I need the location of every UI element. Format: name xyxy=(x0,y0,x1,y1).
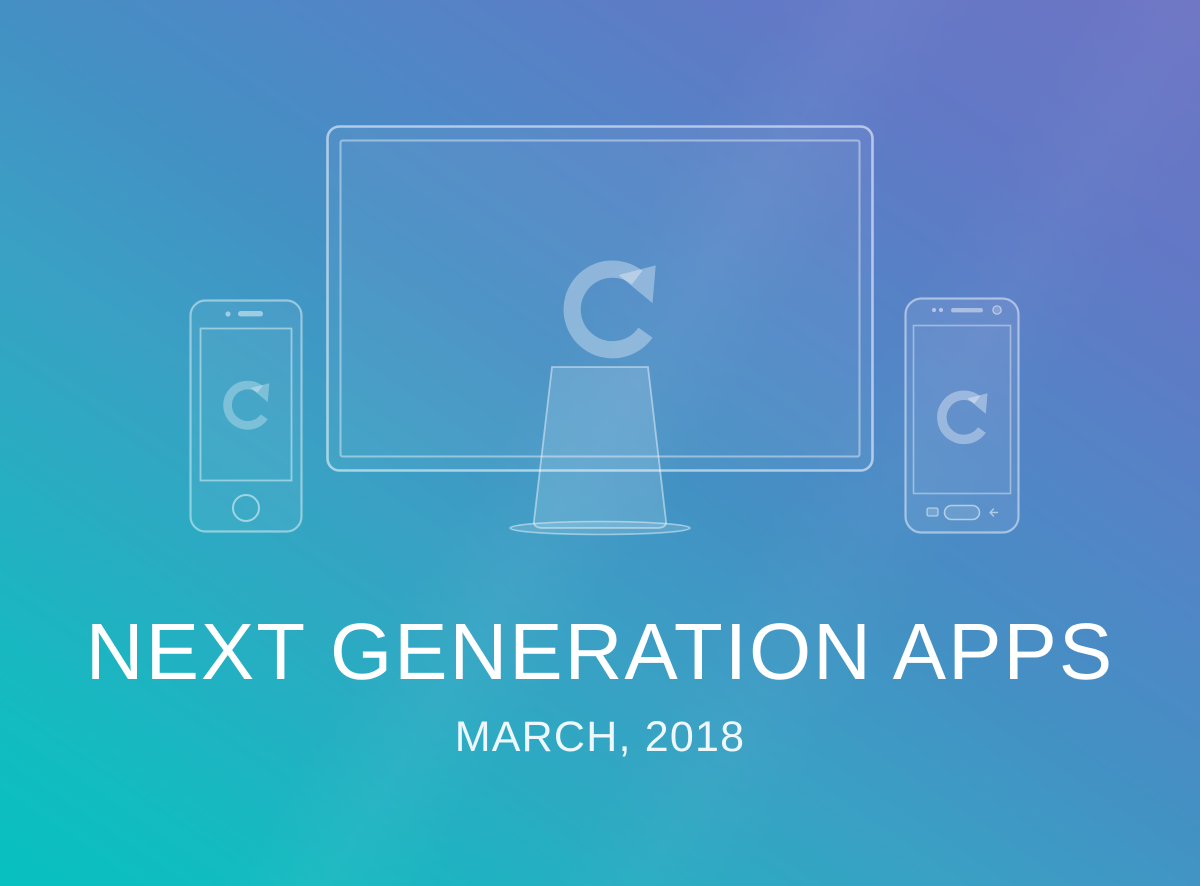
android-recents-button[interactable] xyxy=(927,508,938,516)
android-sensor-dot-2 xyxy=(939,308,943,312)
device-iphone xyxy=(191,301,302,532)
iphone-screen xyxy=(201,329,292,481)
iphone-earpiece-speaker xyxy=(238,311,263,316)
device-illustration-group xyxy=(0,0,1200,580)
iphone-front-camera-dot xyxy=(225,311,230,316)
device-android-phone xyxy=(906,299,1019,533)
android-home-button[interactable] xyxy=(945,506,980,520)
android-sensor-dot-1 xyxy=(932,308,936,312)
page-subtitle: MARCH, 2018 xyxy=(0,716,1200,759)
device-desktop-monitor xyxy=(328,127,873,535)
poster-canvas: NEXT GENERATION APPS MARCH, 2018 xyxy=(0,0,1200,886)
monitor-inner-screen xyxy=(341,141,860,457)
page-title: NEXT GENERATION APPS xyxy=(0,612,1200,692)
text-block: NEXT GENERATION APPS MARCH, 2018 xyxy=(0,612,1200,759)
android-front-camera xyxy=(993,306,1001,314)
android-screen xyxy=(914,326,1011,494)
android-earpiece-speaker xyxy=(951,308,983,312)
